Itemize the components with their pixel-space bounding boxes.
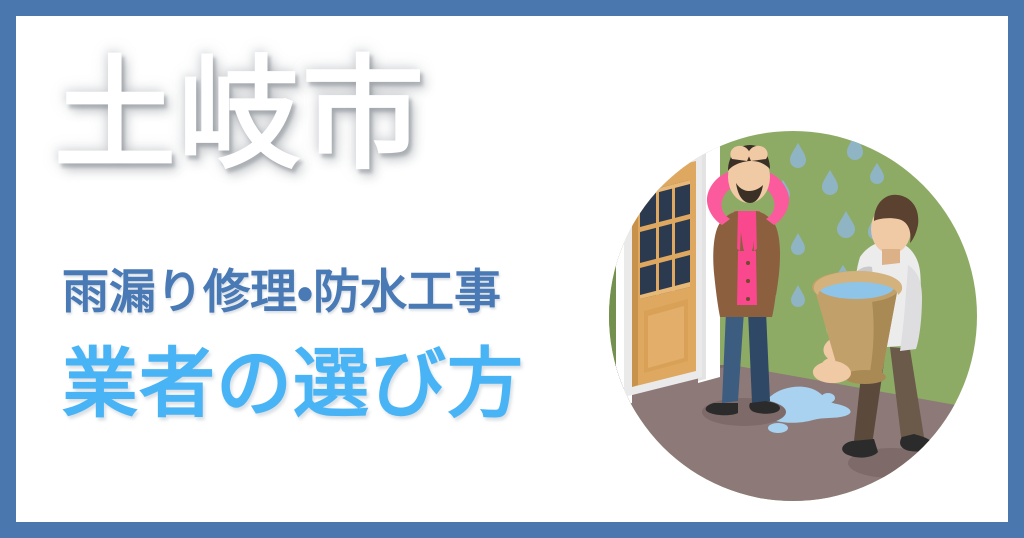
text-column: 土岐市 雨漏り修理・防水工事 業者の選び方 — [16, 16, 616, 522]
page-title: 土岐市 — [54, 54, 574, 176]
subtitle-service: 雨漏り修理・防水工事 — [62, 266, 501, 319]
banner-inner-panel: 土岐市 雨漏り修理・防水工事 業者の選び方 — [16, 16, 1008, 522]
scene-circle — [602, 115, 984, 501]
headline-how-to-choose: 業者の選び方 — [62, 343, 524, 427]
banner: 土岐市 雨漏り修理・防水工事 業者の選び方 — [0, 0, 1024, 538]
illustration-roof-leak — [602, 115, 984, 501]
door-glass-panel — [640, 180, 690, 299]
door-icon — [616, 135, 720, 407]
